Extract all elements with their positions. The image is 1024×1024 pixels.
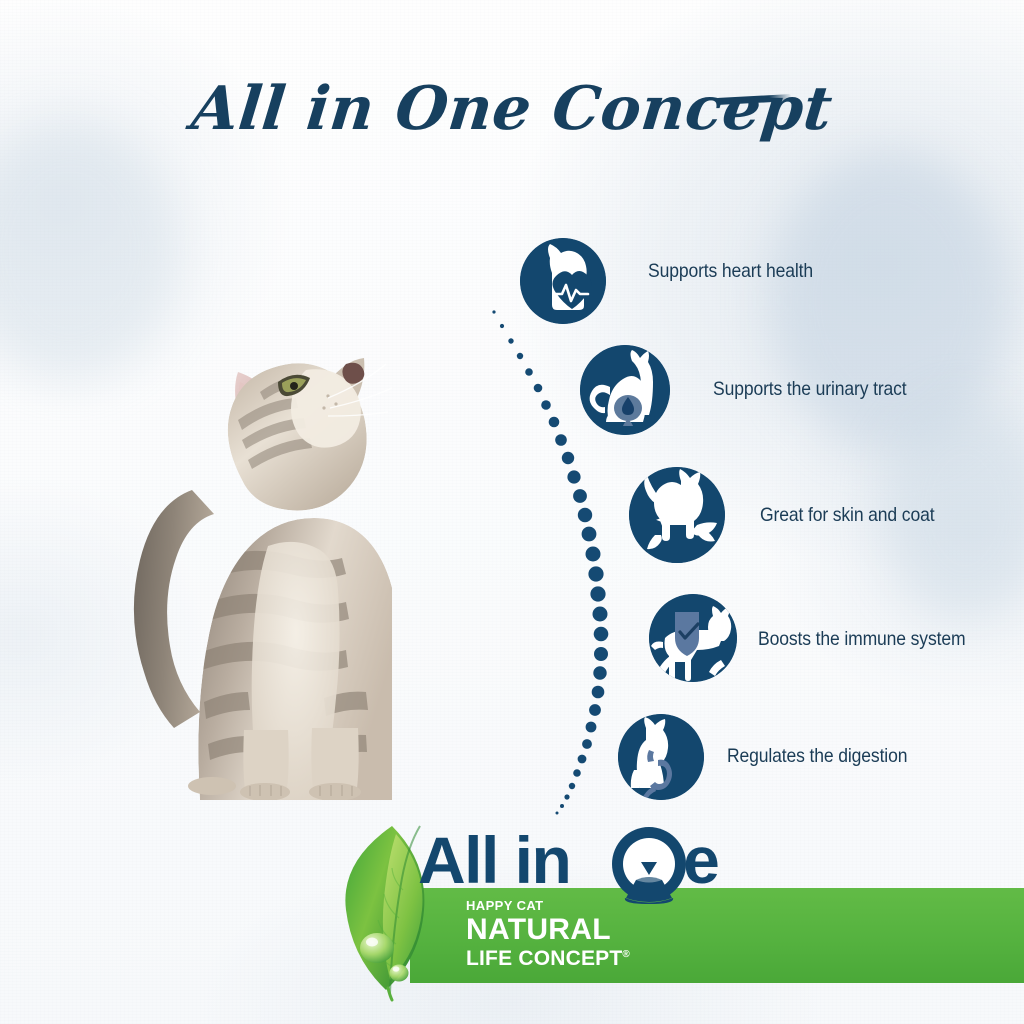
cat-sparkle-coat-icon — [629, 467, 725, 563]
banner-text-block: HAPPY CAT NATURAL LIFE CONCEPT® — [466, 899, 630, 969]
benefit-icon-urinary[interactable] — [580, 345, 670, 435]
benefit-label-digestion: Regulates the digestion — [727, 745, 907, 768]
benefit-icon-immune[interactable] — [649, 594, 737, 682]
kitten-photo — [92, 330, 392, 800]
cat-shield-check-icon — [649, 594, 737, 682]
wordmark-part-1: All in — [418, 823, 570, 897]
poster-canvas: All in One Concept — [0, 0, 1024, 1024]
banner-line-natural: NATURAL — [466, 915, 630, 945]
cat-heart-ecg-icon — [520, 238, 606, 324]
benefit-label-immune: Boosts the immune system — [758, 628, 965, 651]
food-bowl-arrow-icon — [606, 824, 692, 910]
benefit-label-urinary: Supports the urinary tract — [713, 378, 907, 401]
page-title: All in One Concept — [0, 74, 1024, 144]
benefit-label-heart: Supports heart health — [648, 260, 813, 283]
banner-line-happy-cat: HAPPY CAT — [466, 899, 630, 912]
benefit-icon-heart[interactable] — [520, 238, 606, 324]
benefit-icon-skin-coat[interactable] — [629, 467, 725, 563]
registered-mark: ® — [622, 949, 630, 960]
banner-life-concept-text: LIFE CONCEPT — [466, 947, 622, 970]
banner-line-life-concept: LIFE CONCEPT® — [466, 948, 630, 969]
benefit-icon-digestion[interactable] — [618, 714, 704, 800]
cat-bladder-droplet-icon — [580, 345, 670, 435]
benefit-label-skin-coat: Great for skin and coat — [760, 504, 934, 527]
cat-stomach-icon — [618, 714, 704, 800]
